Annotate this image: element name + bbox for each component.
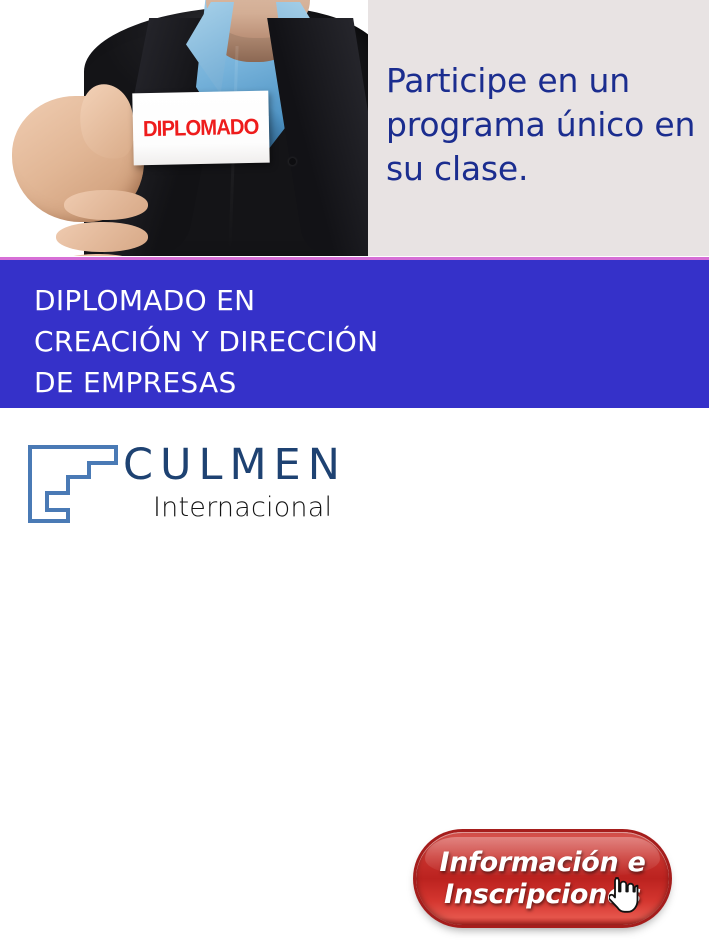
cta-label-line-2: Inscripciones xyxy=(444,879,641,910)
suit-button xyxy=(289,158,296,165)
advertisement-banner: DIPLOMADO Participe en un programa único… xyxy=(0,0,709,567)
finger-2 xyxy=(56,222,148,252)
hero-section: DIPLOMADO Participe en un programa único… xyxy=(0,0,709,256)
program-title: DIPLOMADO EN CREACIÓN Y DIRECCIÓN DE EMP… xyxy=(0,260,709,404)
informacion-inscripciones-button[interactable]: Información e Inscripciones xyxy=(416,832,669,925)
program-title-banner: DIPLOMADO EN CREACIÓN Y DIRECCIÓN DE EMP… xyxy=(0,257,709,408)
businessman-photo: DIPLOMADO xyxy=(0,0,368,256)
business-card-text: DIPLOMADO xyxy=(143,114,259,142)
program-title-line-2: CREACIÓN Y DIRECCIÓN xyxy=(34,322,709,363)
logo-name: CULMEN xyxy=(123,442,333,487)
culmen-logo[interactable]: CULMEN Internacional xyxy=(27,442,327,536)
logo-subtitle: Internacional xyxy=(123,487,333,521)
finger-1 xyxy=(64,190,148,220)
cta-area: Información e Inscripciones xyxy=(416,832,674,942)
cta-label-line-1: Información e xyxy=(439,847,645,878)
logo-wordmark: CULMEN Internacional xyxy=(123,442,333,536)
business-card: DIPLOMADO xyxy=(132,91,269,166)
program-title-line-1: DIPLOMADO EN xyxy=(34,281,709,322)
staircase-icon xyxy=(27,444,119,524)
footer-section: CULMEN Internacional Información e Inscr… xyxy=(0,408,709,567)
tagline-panel: Participe en un programa único en su cla… xyxy=(368,0,709,256)
program-title-line-3: DE EMPRESAS xyxy=(34,363,709,404)
tagline-text: Participe en un programa único en su cla… xyxy=(368,59,709,197)
